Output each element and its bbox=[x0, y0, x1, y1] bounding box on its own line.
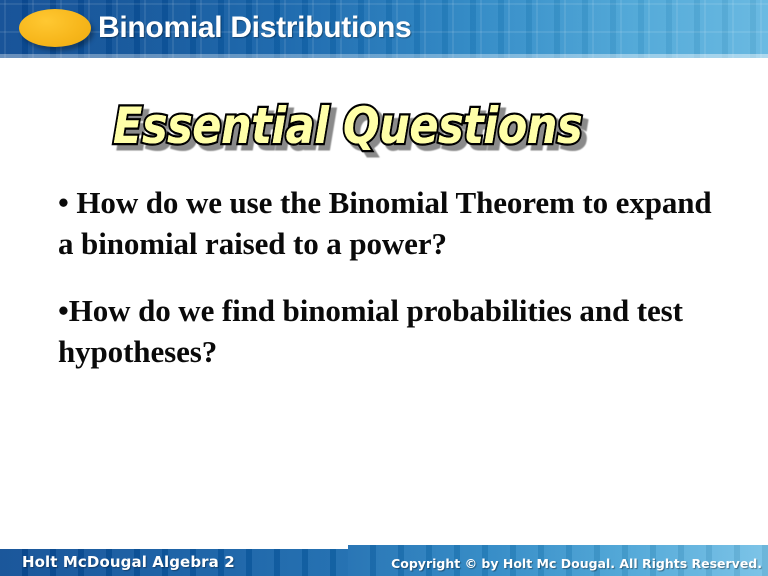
footer-copyright-label: Copyright © by Holt Mc Dougal. All Right… bbox=[391, 555, 762, 572]
bullet-item: • How do we use the Binomial Theorem to … bbox=[58, 182, 718, 264]
essential-questions-wordart: Essential Questions Essential Questions … bbox=[113, 96, 533, 160]
wordart-fill-layer: Essential Questions bbox=[113, 96, 582, 156]
body-content: • How do we use the Binomial Theorem to … bbox=[58, 182, 718, 372]
yellow-ellipse-icon bbox=[19, 9, 91, 47]
page-title: Binomial Distributions bbox=[98, 9, 411, 47]
header-bottom-edge bbox=[0, 54, 768, 58]
footer-book-label: Holt McDougal Algebra 2 bbox=[22, 553, 235, 572]
slide-canvas: Binomial Distributions Essential Questio… bbox=[0, 0, 768, 576]
bullet-item: •How do we find binomial probabilities a… bbox=[58, 290, 718, 372]
